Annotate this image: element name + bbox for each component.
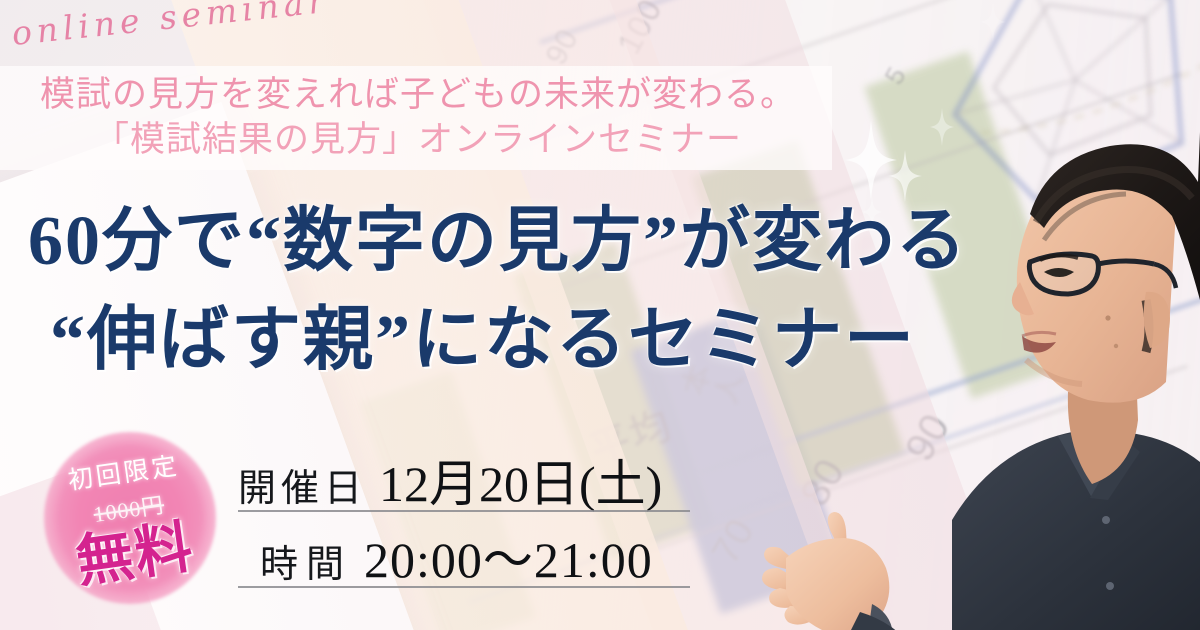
badge-limited-label: 初回限定 — [65, 445, 181, 496]
headline-block: 60分で“数字の見方”が変わる “伸ばす親”になるセミナー — [28, 192, 1088, 391]
detail-divider — [238, 510, 690, 512]
detail-label-time: 時間 — [260, 533, 352, 588]
price-badge: 初回限定 1000円 無料 — [44, 432, 216, 604]
seminar-banner: 100 90 5 90 80 70 平均 本人 — [0, 0, 1200, 630]
script-kicker: online seminar — [10, 0, 331, 53]
detail-divider — [238, 586, 690, 588]
event-details: 開催日 12月20日(土) 時間 20:00〜21:00 — [238, 444, 690, 596]
detail-label-date: 開催日 — [238, 457, 367, 512]
banner-content: online seminar 模試の見方を変えれば子どもの未来が変わる。 「模試… — [0, 0, 1200, 630]
badge-text-group: 初回限定 1000円 無料 — [33, 421, 227, 615]
headline-line-2: “伸ばす親”になるセミナー — [28, 291, 1088, 390]
detail-row-date: 開催日 12月20日(土) — [238, 444, 690, 506]
headline-line-1: 60分で“数字の見方”が変わる — [28, 192, 1088, 291]
detail-value-time: 20:00〜21:00 — [364, 520, 653, 592]
subtitle-line-1: 模試の見方を変えれば子どもの未来が変わる。 — [40, 74, 796, 117]
subtitle-block: 模試の見方を変えれば子どもの未来が変わる。 「模試結果の見方」オンラインセミナー — [0, 68, 836, 168]
subtitle-line-2: 「模試結果の見方」オンラインセミナー — [94, 119, 742, 162]
badge-price: 無料 — [73, 518, 198, 591]
detail-value-date: 12月20日(土) — [379, 444, 662, 516]
detail-row-time: 時間 20:00〜21:00 — [238, 520, 690, 582]
